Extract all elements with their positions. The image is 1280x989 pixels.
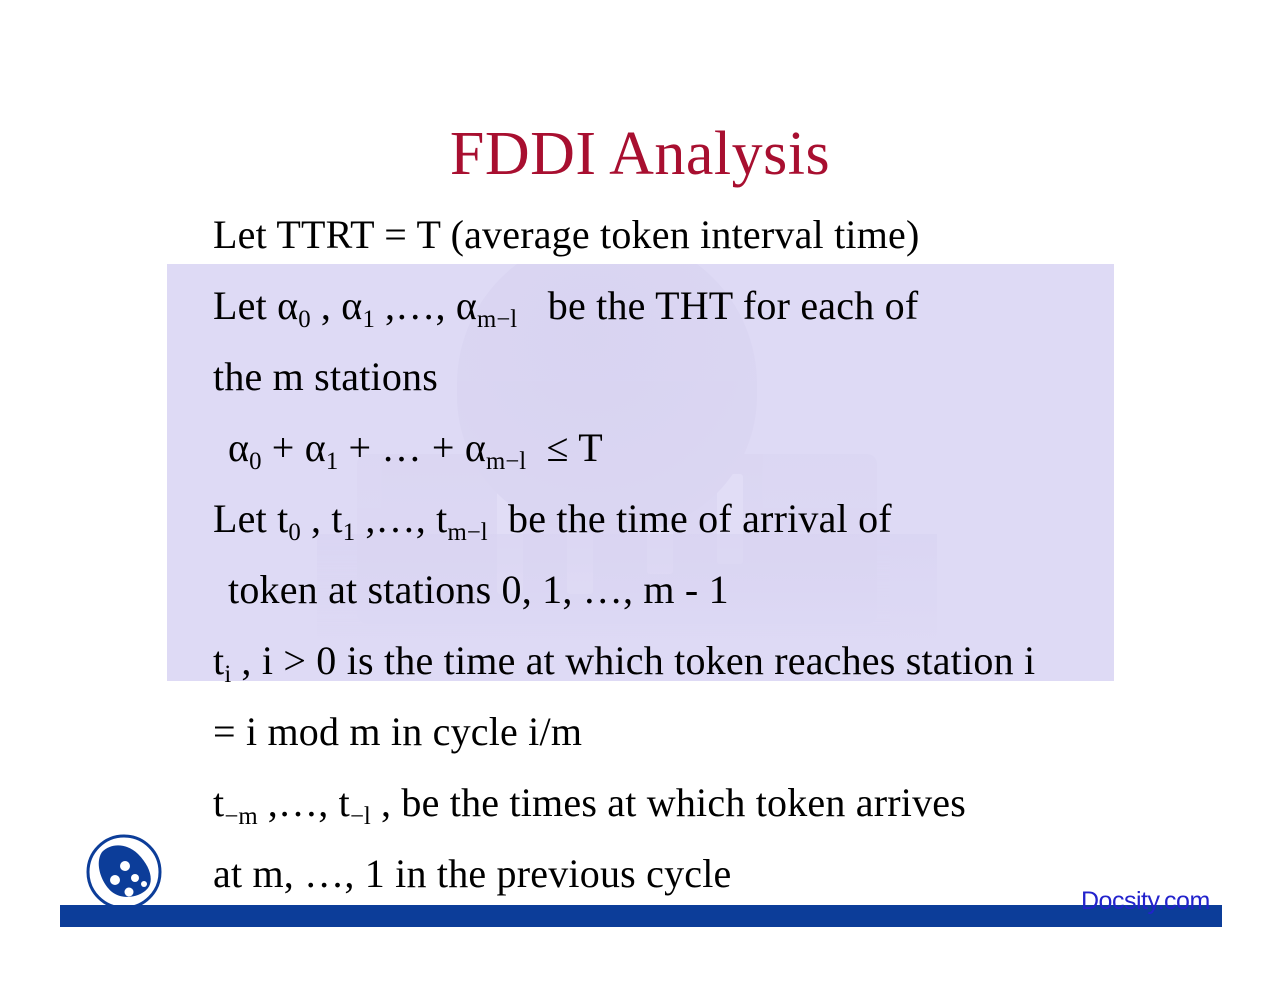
body-text-line-5: Let t0 , t1 ,…, tm−l be the time of arri… — [213, 495, 892, 557]
body-text-line-9: t−m ,…, t−l , be the times at which toke… — [213, 779, 966, 841]
body-text-line-7: ti , i > 0 is the time at which token re… — [213, 637, 1035, 699]
body-text-line-2: Let α0 , α1 ,…, αm−l be the THT for each… — [213, 282, 918, 344]
body-text-line-6: token at stations 0, 1, …, m - 1 — [228, 566, 729, 614]
body-text-line-10: at m, …, 1 in the previous cycle — [213, 850, 732, 898]
docsity-watermark-text: Docsity.com — [1081, 889, 1210, 914]
body-text-line-3: the m stations — [213, 353, 438, 401]
slide-canvas: FDDI Analysis Let TTRT = T (average toke… — [0, 0, 1280, 989]
footer-bar — [60, 905, 1222, 927]
page-title: FDDI Analysis — [0, 118, 1280, 190]
body-text-line-8: = i mod m in cycle i/m — [213, 708, 582, 756]
docsity-logo — [78, 828, 170, 920]
body-text-line-1: Let TTRT = T (average token interval tim… — [213, 211, 920, 259]
docsity-logo-icon — [78, 828, 170, 920]
body-text-line-4: α0 + α1 + … + αm−l ≤ T — [228, 424, 603, 486]
